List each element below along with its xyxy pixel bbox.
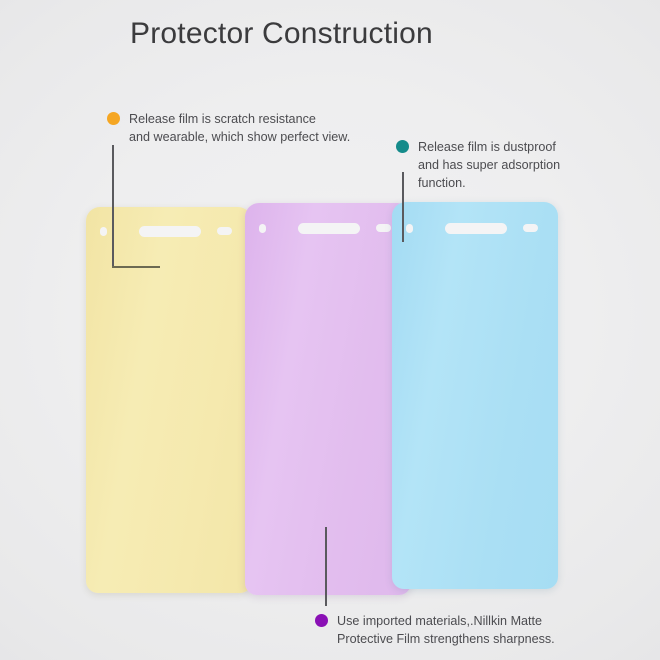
film-purple-protective xyxy=(245,203,411,595)
sensor-cutout-icon xyxy=(376,224,391,232)
camera-cutout-icon xyxy=(406,224,413,233)
protector-construction-infographic: Protector Construction Release film is s… xyxy=(0,0,660,660)
callout-imported-materials: Use imported materials,.Nillkin Matte Pr… xyxy=(315,612,615,648)
callout-dustproof: Release film is dustproof and has super … xyxy=(396,138,596,192)
callout-scratch-resistance: Release film is scratch resistance and w… xyxy=(107,110,387,146)
sensor-cutout-icon xyxy=(217,227,232,235)
callout-dustproof-text: Release film is dustproof and has super … xyxy=(418,138,560,192)
bullet-dot-purple-icon xyxy=(315,614,328,627)
speaker-cutout-icon xyxy=(298,223,360,234)
callout-scratch-resistance-text: Release film is scratch resistance and w… xyxy=(129,110,350,146)
film-blue-release xyxy=(392,202,558,589)
bullet-dot-orange-icon xyxy=(107,112,120,125)
page-title: Protector Construction xyxy=(130,17,433,51)
speaker-cutout-icon xyxy=(445,223,507,234)
speaker-cutout-icon xyxy=(139,226,201,237)
sensor-cutout-icon xyxy=(523,224,538,232)
camera-cutout-icon xyxy=(100,227,107,236)
film-yellow-release xyxy=(86,207,252,593)
bullet-dot-teal-icon xyxy=(396,140,409,153)
leader-line-scratch-horizontal xyxy=(112,266,160,268)
callout-imported-materials-text: Use imported materials,.Nillkin Matte Pr… xyxy=(337,612,555,648)
leader-line-materials-vertical xyxy=(325,527,327,606)
camera-cutout-icon xyxy=(259,224,266,233)
leader-line-scratch-vertical xyxy=(112,145,114,268)
